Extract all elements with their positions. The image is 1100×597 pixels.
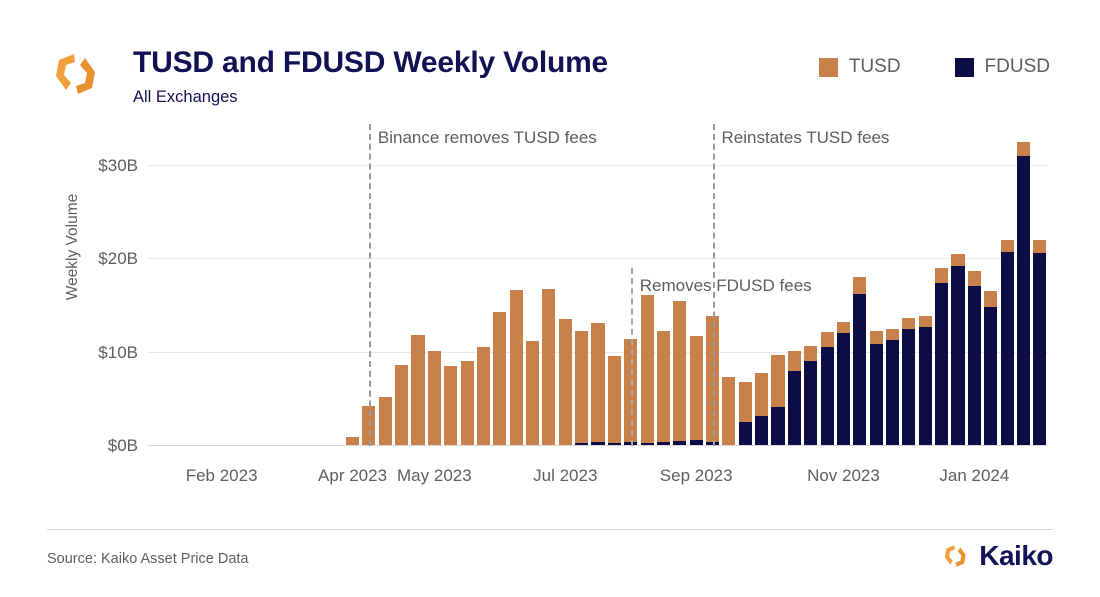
bar-segment-fdusd <box>1017 156 1030 445</box>
bar-segment-fdusd <box>935 283 948 445</box>
bar-segment-fdusd <box>788 371 801 445</box>
bar-segment-fdusd <box>1033 253 1046 445</box>
bar-group[interactable] <box>493 312 506 445</box>
bar-group[interactable] <box>542 289 555 445</box>
annotation-label: Reinstates TUSD fees <box>722 128 890 148</box>
bar-group[interactable] <box>968 271 981 445</box>
bar-segment-tusd <box>493 312 506 445</box>
bar-group[interactable] <box>379 397 392 445</box>
bar-segment-fdusd <box>739 422 752 445</box>
bar-group[interactable] <box>673 301 686 445</box>
x-axis-ticks: Feb 2023Apr 2023May 2023Jul 2023Sep 2023… <box>148 466 1048 496</box>
bar-segment-fdusd <box>771 407 784 445</box>
bar-segment-fdusd <box>673 441 686 445</box>
bar-group[interactable] <box>919 316 932 445</box>
bar-group[interactable] <box>902 318 915 445</box>
bar-segment-fdusd <box>870 344 883 445</box>
bar-group[interactable] <box>870 331 883 445</box>
bar-segment-fdusd <box>575 443 588 445</box>
bar-segment-tusd <box>411 335 424 445</box>
bar-segment-fdusd <box>837 333 850 445</box>
bar-group[interactable] <box>722 377 735 445</box>
bar-segment-tusd <box>379 397 392 445</box>
bar-segment-tusd <box>886 329 899 340</box>
annotation-line <box>631 268 633 446</box>
bar-segment-tusd <box>837 322 850 333</box>
bar-group[interactable] <box>526 341 539 445</box>
bar-segment-tusd <box>591 323 604 442</box>
bar-segment-tusd <box>1033 240 1046 253</box>
annotation-line <box>713 124 715 446</box>
bar-segment-tusd <box>395 365 408 445</box>
x-tick-label: Sep 2023 <box>660 466 733 486</box>
x-tick-label: May 2023 <box>397 466 472 486</box>
bar-series <box>148 0 1048 520</box>
bar-group[interactable] <box>510 290 523 445</box>
annotation-label: Removes FDUSD fees <box>640 276 812 296</box>
footer-divider <box>47 529 1053 530</box>
bar-segment-tusd <box>935 268 948 283</box>
bar-group[interactable] <box>461 361 474 445</box>
bar-segment-tusd <box>1017 142 1030 156</box>
bar-group[interactable] <box>935 268 948 445</box>
bar-group[interactable] <box>821 332 834 445</box>
annotation-line <box>369 124 371 446</box>
source-text: Source: Kaiko Asset Price Data <box>47 551 249 567</box>
bar-segment-tusd <box>542 289 555 445</box>
bar-group[interactable] <box>395 365 408 445</box>
bar-segment-fdusd <box>984 307 997 445</box>
footer-brand: Kaiko <box>940 540 1053 572</box>
bar-segment-tusd <box>804 346 817 361</box>
x-tick-label: Nov 2023 <box>807 466 880 486</box>
bar-group[interactable] <box>477 347 490 445</box>
bar-segment-tusd <box>919 316 932 327</box>
bar-segment-tusd <box>575 331 588 443</box>
bar-group[interactable] <box>804 346 817 445</box>
y-axis-ticks: $0B$10B$20B$30B <box>60 0 138 520</box>
bar-group[interactable] <box>1017 142 1030 445</box>
bar-group[interactable] <box>951 254 964 445</box>
bar-group[interactable] <box>837 322 850 445</box>
bar-segment-tusd <box>673 301 686 441</box>
bar-segment-tusd <box>428 351 441 445</box>
bar-group[interactable] <box>346 437 359 445</box>
bar-group[interactable] <box>690 336 703 445</box>
bar-segment-tusd <box>853 277 866 294</box>
bar-group[interactable] <box>444 366 457 445</box>
x-tick-label: Jan 2024 <box>939 466 1009 486</box>
bar-segment-fdusd <box>902 329 915 445</box>
bar-segment-fdusd <box>690 440 703 445</box>
bar-segment-fdusd <box>591 442 604 445</box>
bar-group[interactable] <box>1033 240 1046 445</box>
bar-segment-tusd <box>739 382 752 422</box>
bar-segment-tusd <box>444 366 457 445</box>
bar-group[interactable] <box>984 291 997 445</box>
y-tick-label: $10B <box>60 343 138 363</box>
bar-segment-fdusd <box>951 266 964 445</box>
bar-group[interactable] <box>591 323 604 445</box>
bar-group[interactable] <box>657 331 670 445</box>
bar-group[interactable] <box>788 351 801 445</box>
bar-segment-tusd <box>657 331 670 442</box>
bar-segment-fdusd <box>1001 252 1014 445</box>
annotation-label: Binance removes TUSD fees <box>378 128 597 148</box>
bar-segment-fdusd <box>821 347 834 445</box>
bar-group[interactable] <box>886 329 899 445</box>
bar-segment-tusd <box>755 373 768 416</box>
x-tick-label: Jul 2023 <box>533 466 597 486</box>
bar-group[interactable] <box>559 319 572 445</box>
bar-group[interactable] <box>755 373 768 445</box>
kaiko-hexagon-logo-icon <box>940 541 970 571</box>
bar-group[interactable] <box>771 355 784 445</box>
bar-segment-fdusd <box>755 416 768 445</box>
bar-segment-fdusd <box>853 294 866 445</box>
bar-segment-fdusd <box>804 361 817 445</box>
bar-segment-fdusd <box>657 442 670 445</box>
bar-segment-tusd <box>510 290 523 445</box>
bar-segment-tusd <box>771 355 784 406</box>
bar-segment-tusd <box>461 361 474 445</box>
bar-group[interactable] <box>853 277 866 445</box>
bar-segment-tusd <box>608 356 621 443</box>
plot-area: Weekly Volume $0B$10B$20B$30B Binance re… <box>0 0 1100 520</box>
brand-wordmark: Kaiko <box>979 540 1053 572</box>
bar-group[interactable] <box>739 382 752 445</box>
bar-segment-tusd <box>951 254 964 266</box>
bar-group[interactable] <box>1001 240 1014 445</box>
x-tick-label: Apr 2023 <box>318 466 387 486</box>
bar-segment-tusd <box>722 377 735 445</box>
bar-segment-fdusd <box>968 286 981 445</box>
bar-segment-tusd <box>559 319 572 445</box>
bar-segment-tusd <box>1001 240 1014 252</box>
bar-segment-tusd <box>526 341 539 445</box>
y-tick-label: $20B <box>60 249 138 269</box>
bar-group[interactable] <box>428 351 441 445</box>
bar-segment-tusd <box>870 331 883 344</box>
bar-segment-tusd <box>788 351 801 372</box>
y-tick-label: $30B <box>60 156 138 176</box>
bar-segment-tusd <box>346 437 359 445</box>
bar-group[interactable] <box>575 331 588 445</box>
bar-segment-fdusd <box>886 340 899 445</box>
bar-segment-tusd <box>641 295 654 443</box>
bar-segment-tusd <box>902 318 915 329</box>
bar-group[interactable] <box>411 335 424 445</box>
bar-segment-tusd <box>690 336 703 441</box>
bar-segment-fdusd <box>608 443 621 445</box>
bar-segment-tusd <box>984 291 997 307</box>
bar-group[interactable] <box>641 295 654 445</box>
x-tick-label: Feb 2023 <box>186 466 258 486</box>
bar-segment-tusd <box>477 347 490 445</box>
bar-segment-fdusd <box>641 443 654 445</box>
bar-segment-tusd <box>968 271 981 286</box>
bar-group[interactable] <box>608 356 621 445</box>
bar-segment-tusd <box>821 332 834 347</box>
bar-segment-fdusd <box>919 327 932 445</box>
y-tick-label: $0B <box>60 436 138 456</box>
chart-page: TUSD and FDUSD Weekly Volume All Exchang… <box>0 0 1100 597</box>
